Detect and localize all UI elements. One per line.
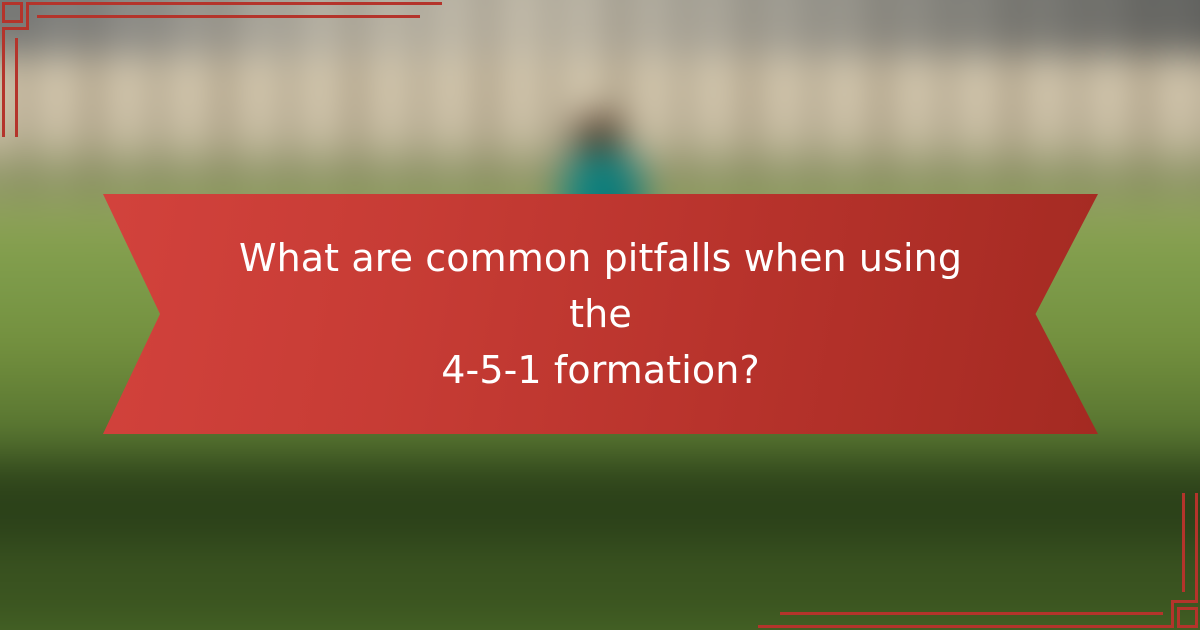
screenshot-canvas: What are common pitfalls when using the … <box>0 0 1200 630</box>
question-text: What are common pitfalls when using the … <box>221 230 981 398</box>
question-banner: What are common pitfalls when using the … <box>103 194 1098 434</box>
stadium-roof-band <box>0 0 1200 55</box>
pitch-shadow-lower <box>0 437 1200 564</box>
question-line-1: What are common pitfalls when using the <box>221 230 981 342</box>
question-line-2: 4-5-1 formation? <box>221 342 981 398</box>
